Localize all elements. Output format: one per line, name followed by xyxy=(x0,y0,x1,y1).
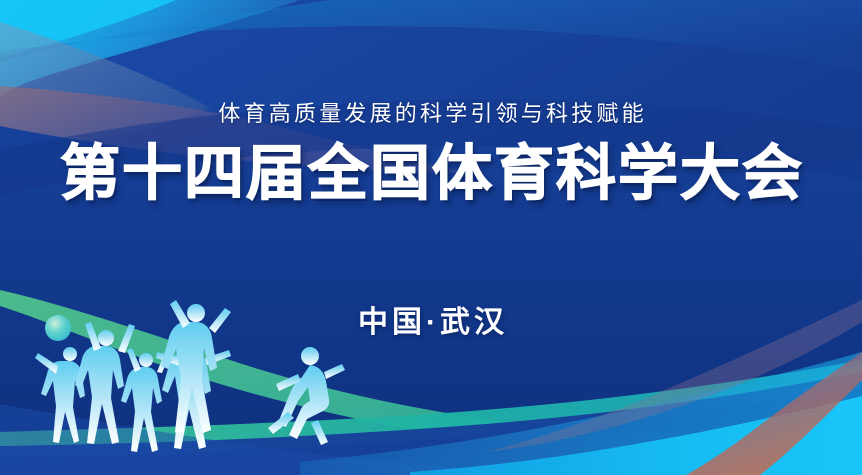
conference-poster-banner: 体育高质量发展的科学引领与科技赋能 第十四届全国体育科学大会 中国·武汉 xyxy=(0,0,862,475)
poster-title: 第十四届全国体育科学大会 xyxy=(58,143,804,205)
poster-subtitle: 体育高质量发展的科学引领与科技赋能 xyxy=(215,104,647,126)
poster-text-content: 体育高质量发展的科学引领与科技赋能 第十四届全国体育科学大会 中国·武汉 xyxy=(0,0,862,475)
poster-location: 中国·武汉 xyxy=(354,308,508,338)
